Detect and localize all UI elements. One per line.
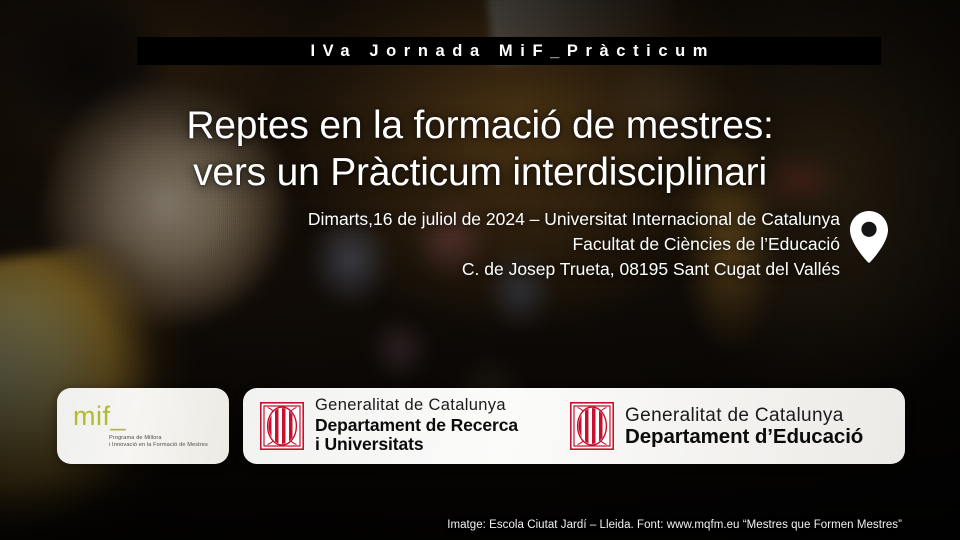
- background-figure-jacket: [0, 229, 262, 540]
- event-kicker-banner: IVa Jornada MiF_Pràcticum: [137, 37, 881, 65]
- logo-panel-generalitat: Generalitat de Catalunya Departament de …: [243, 388, 905, 464]
- event-venue-block: Dimarts,16 de juliol de 2024 – Universit…: [308, 207, 840, 282]
- page-title-line-1: Reptes en la formació de mestres:: [70, 102, 890, 149]
- mif-wordmark: mif_: [73, 403, 229, 429]
- event-kicker-text: IVa Jornada MiF_Pràcticum: [303, 42, 715, 61]
- logo-generalitat-recerca: Generalitat de Catalunya Departament de …: [260, 397, 518, 455]
- event-poster: IVa Jornada MiF_Pràcticum Reptes en la f…: [0, 0, 960, 540]
- mif-wordmark-underscore: _: [111, 401, 125, 431]
- mif-wordmark-text: mif: [73, 401, 111, 431]
- generalitat-educacio-institution: Generalitat de Catalunya: [625, 406, 863, 425]
- generalitat-educacio-department-line-1: Departament d’Educació: [625, 427, 863, 447]
- generalitat-recerca-text: Generalitat de Catalunya Departament de …: [315, 397, 518, 455]
- logo-panel-mif: mif_ Programa de Millora i Innovació en …: [57, 388, 229, 464]
- location-pin-icon: [849, 211, 889, 263]
- generalitat-educacio-text: Generalitat de Catalunya Departament d’E…: [625, 406, 863, 447]
- image-credit: Imatge: Escola Ciutat Jardí – Lleida. Fo…: [447, 519, 902, 531]
- page-title: Reptes en la formació de mestres: vers u…: [70, 102, 890, 196]
- logo-generalitat-educacio: Generalitat de Catalunya Departament d’E…: [570, 402, 863, 450]
- generalitat-recerca-department-line-1: Departament de Recerca: [315, 416, 518, 436]
- event-faculty: Facultat de Ciències de l’Educació: [308, 232, 840, 257]
- mif-tagline-line-2: i Innovació en la Formació de Mestres: [109, 442, 229, 449]
- mif-tagline: Programa de Millora i Innovació en la Fo…: [109, 435, 229, 449]
- mif-tagline-line-1: Programa de Millora: [109, 435, 229, 442]
- page-title-line-2: vers un Pràcticum interdisciplinari: [70, 149, 890, 196]
- event-date-and-university: Dimarts,16 de juliol de 2024 – Universit…: [308, 207, 840, 232]
- generalitat-recerca-department-line-2: i Universitats: [315, 435, 518, 455]
- generalitat-recerca-institution: Generalitat de Catalunya: [315, 397, 518, 414]
- senyera-shield-icon: [570, 402, 614, 450]
- senyera-shield-icon: [260, 402, 304, 450]
- event-address: C. de Josep Trueta, 08195 Sant Cugat del…: [308, 257, 840, 282]
